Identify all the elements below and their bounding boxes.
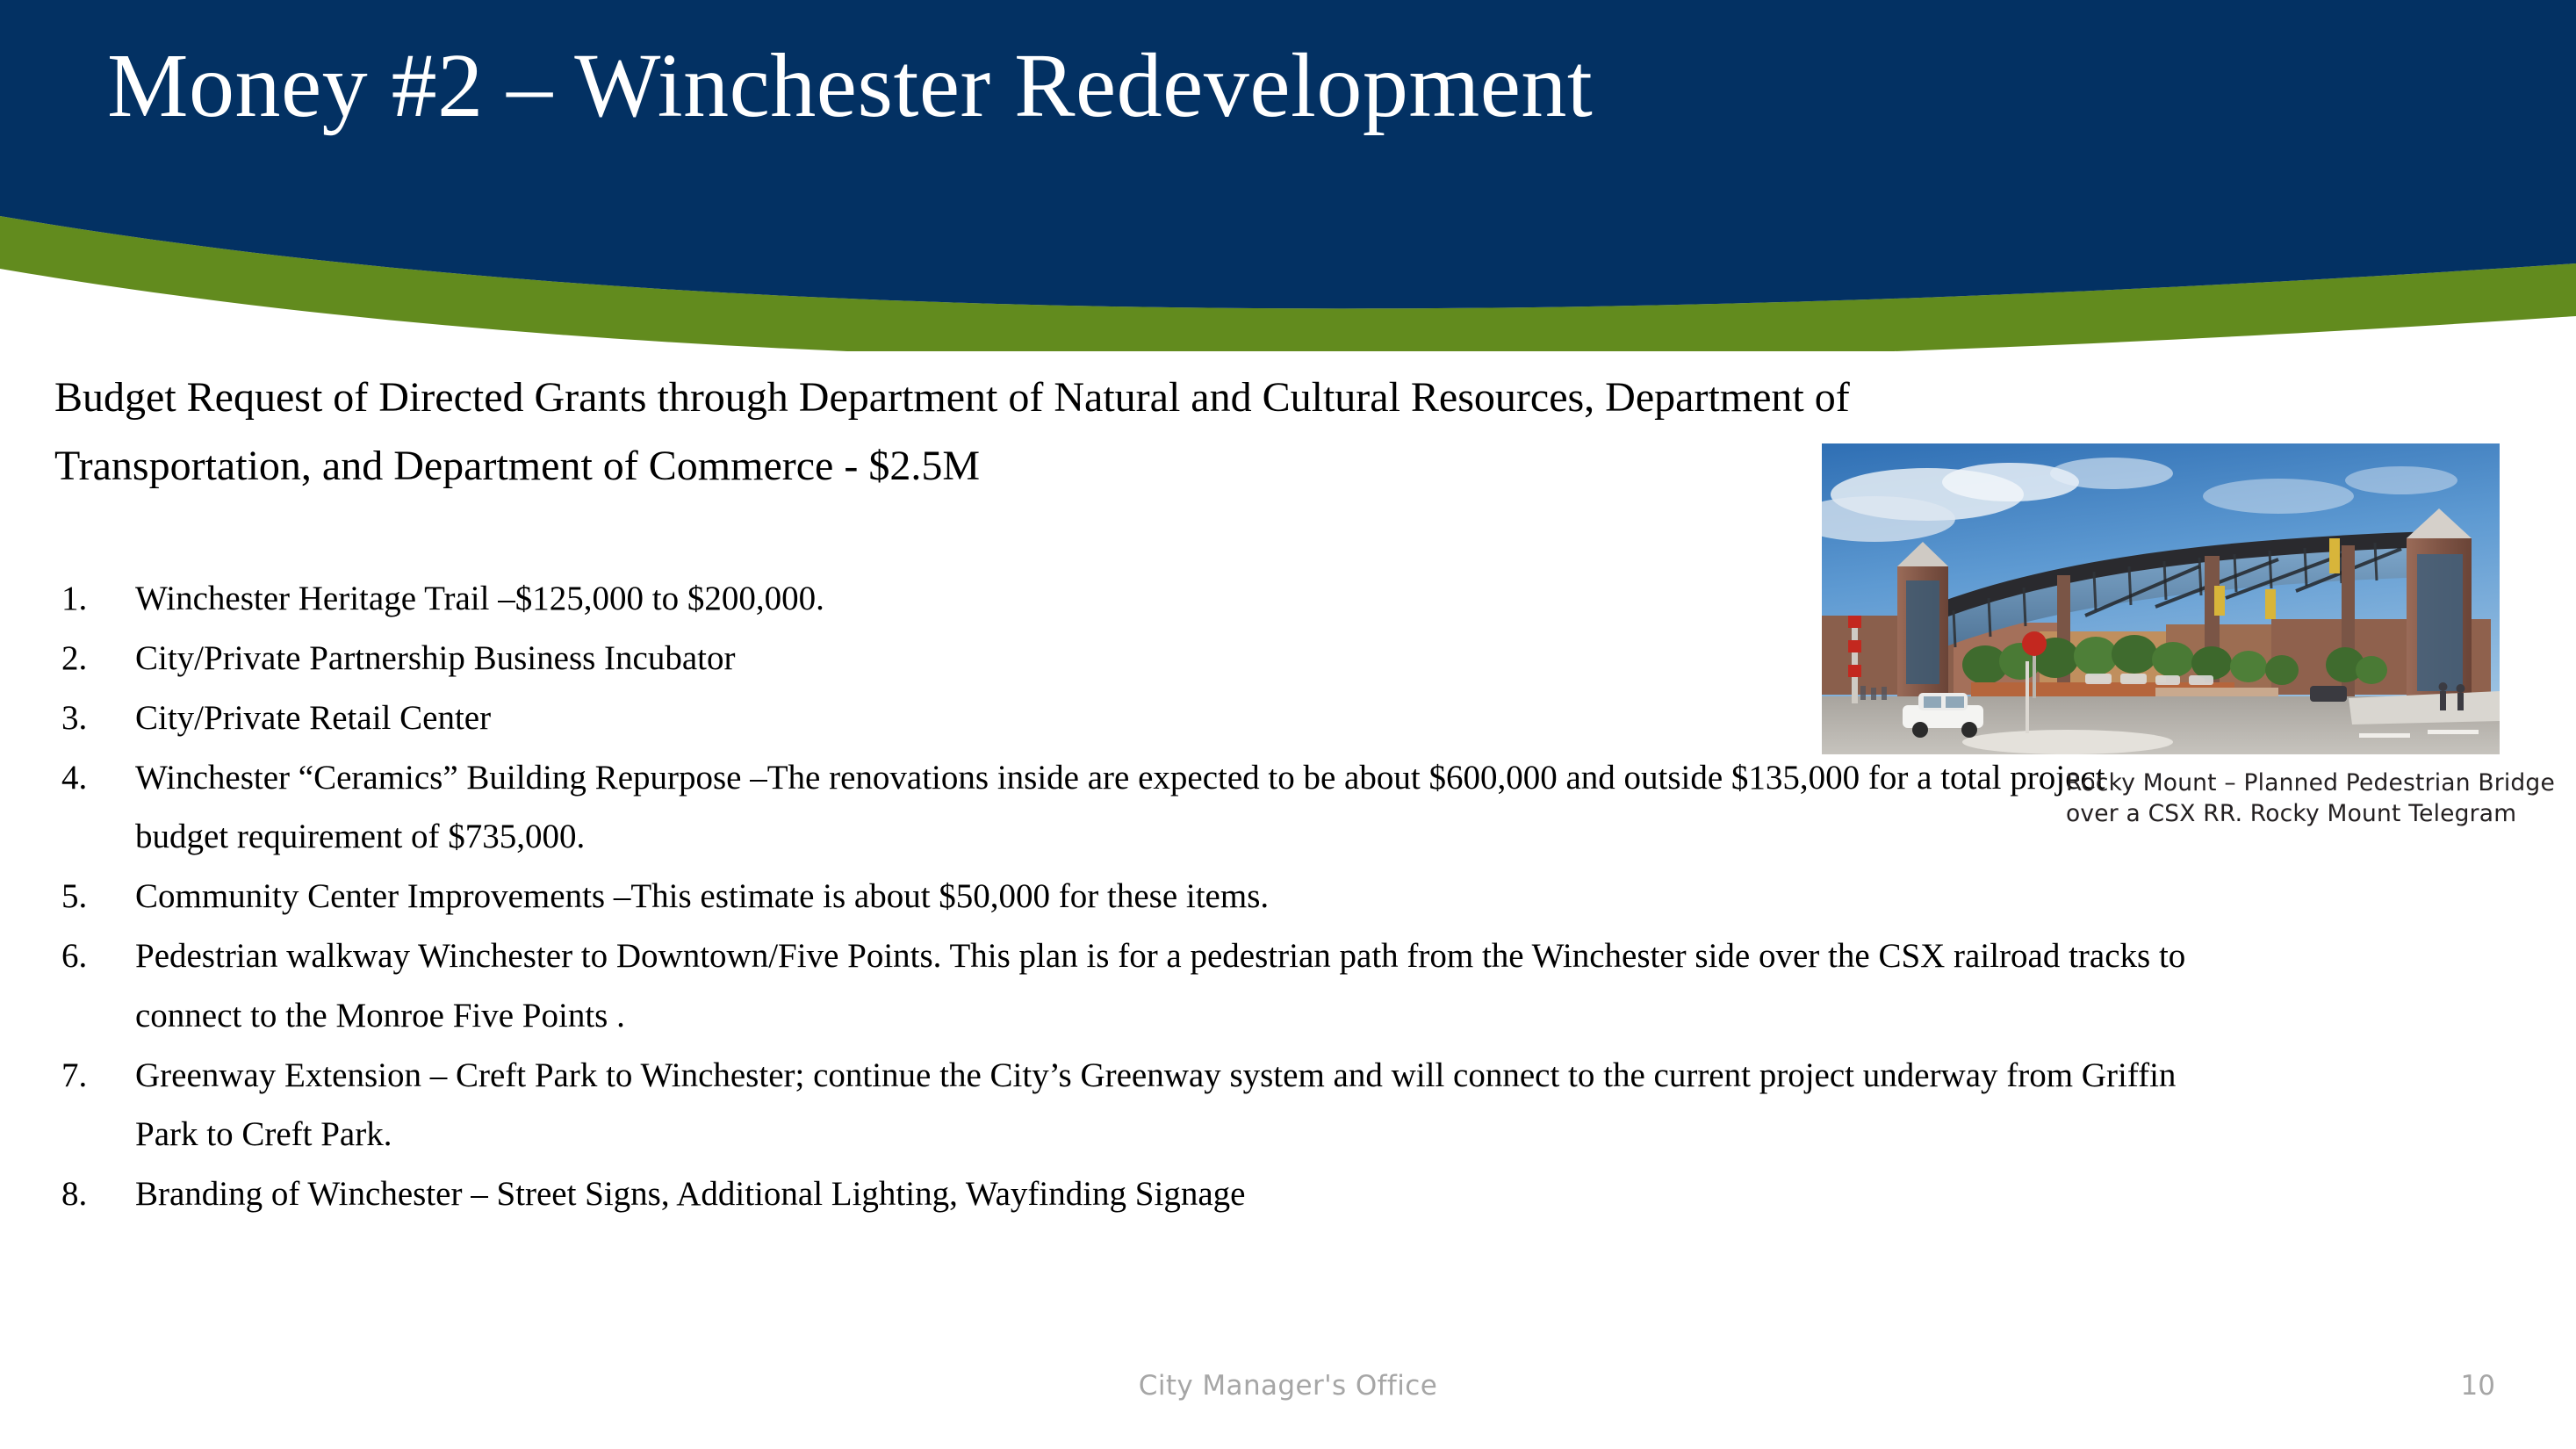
list-item-text: Community Center Improvements –This esti…	[135, 867, 2205, 926]
list-item-number: 7.	[54, 1046, 135, 1105]
footer-label: City Manager's Office	[0, 1370, 2576, 1402]
figure-caption: Rocky Mount – Planned Pedestrian Bridge …	[2066, 768, 2558, 830]
pedestrian-bridge-rendering-image	[1822, 443, 2500, 754]
list-item-text: Branding of Winchester – Street Signs, A…	[135, 1164, 2205, 1223]
intro-paragraph: Budget Request of Directed Grants throug…	[54, 364, 2074, 501]
list-item-number: 8.	[54, 1164, 135, 1223]
page-title: Money #2 – Winchester Redevelopment	[107, 37, 2214, 135]
list-item: 5. Community Center Improvements –This e…	[54, 867, 2205, 926]
list-item-number: 2.	[54, 629, 135, 688]
figure-block: Rocky Mount – Planned Pedestrian Bridge …	[1822, 443, 2500, 830]
list-item: 8. Branding of Winchester – Street Signs…	[54, 1164, 2205, 1223]
list-item-number: 6.	[54, 926, 135, 985]
header-banner: Money #2 – Winchester Redevelopment	[0, 0, 2576, 351]
list-item-text: Greenway Extension – Creft Park to Winch…	[135, 1046, 2205, 1164]
page-number: 10	[2461, 1370, 2495, 1402]
list-item-text: Pedestrian walkway Winchester to Downtow…	[135, 926, 2205, 1044]
list-item: 7. Greenway Extension – Creft Park to Wi…	[54, 1046, 2205, 1164]
list-item-number: 5.	[54, 867, 135, 926]
list-item-number: 3.	[54, 688, 135, 747]
list-item-number: 1.	[54, 569, 135, 628]
footer-bar: City Manager's Office 10	[0, 1370, 2576, 1431]
list-item-number: 4.	[54, 748, 135, 807]
list-item: 6. Pedestrian walkway Winchester to Down…	[54, 926, 2205, 1044]
